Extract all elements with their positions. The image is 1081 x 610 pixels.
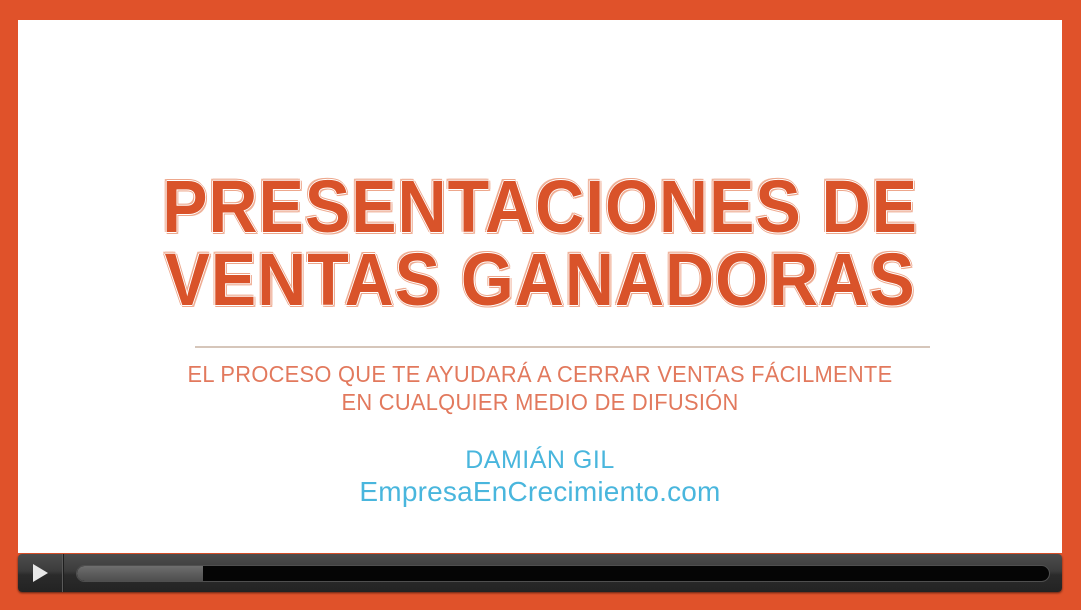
title-line-2: VENTAS GANADORAS xyxy=(60,243,1020,316)
subtitle-line-2: EN CUALQUIER MEDIO DE DIFUSIÓN xyxy=(44,388,1036,416)
author-info: DAMIÁN GIL EmpresaEnCrecimiento.com xyxy=(18,445,1062,509)
author-name: DAMIÁN GIL xyxy=(18,445,1062,475)
title-line-1: PRESENTACIONES DE xyxy=(60,170,1020,243)
player-control-bar xyxy=(18,554,1062,592)
play-triangle-icon xyxy=(33,564,48,582)
seek-bar[interactable] xyxy=(76,565,1050,582)
seek-bar-fill xyxy=(77,566,203,581)
slide-subtitle: EL PROCESO QUE TE AYUDARÁ A CERRAR VENTA… xyxy=(44,360,1036,416)
video-player: PRESENTACIONES DE VENTAS GANADORAS EL PR… xyxy=(0,0,1081,610)
subtitle-line-1: EL PROCESO QUE TE AYUDARÁ A CERRAR VENTA… xyxy=(44,360,1036,388)
seek-bar-container xyxy=(63,554,1062,592)
play-button[interactable] xyxy=(18,554,63,592)
slide-title: PRESENTACIONES DE VENTAS GANADORAS xyxy=(18,170,1062,317)
author-website: EmpresaEnCrecimiento.com xyxy=(18,475,1062,509)
title-divider xyxy=(195,346,930,348)
presentation-slide: PRESENTACIONES DE VENTAS GANADORAS EL PR… xyxy=(18,20,1062,553)
